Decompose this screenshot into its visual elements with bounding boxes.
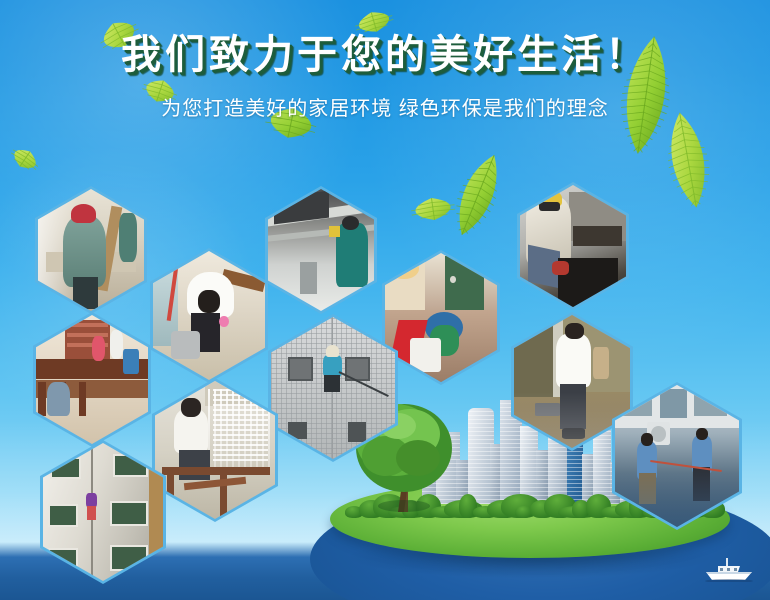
hex-demolition-worker-photo (38, 189, 144, 311)
hex-rooftop-clean-photo (615, 385, 739, 527)
hex-carpet-machine-photo (385, 253, 497, 382)
hex-chandelier-clean[interactable] (152, 378, 278, 522)
hex-ceiling-duct-photo (268, 189, 374, 311)
hexagon-photo-grid (0, 0, 770, 600)
hex-ceiling-duct[interactable] (265, 186, 377, 314)
hex-kitchen-hood-photo (520, 185, 626, 307)
subheadline-container: 为您打造美好的家居环境 绿色环保是我们的理念 (0, 96, 770, 122)
hex-building-exterior[interactable] (40, 440, 166, 584)
hex-stair-mopping-photo (153, 251, 265, 380)
hex-kitchen-hood[interactable] (517, 182, 629, 310)
hex-handrail-polish-photo (36, 315, 148, 444)
hex-facade-rope-photo (271, 317, 395, 459)
hex-chandelier-clean-photo (155, 381, 275, 519)
promo-banner: 我们致力于您的美好生活！ 为您打造美好的家居环境 绿色环保是我们的理念 (0, 0, 770, 600)
headline-container: 我们致力于您的美好生活！ (0, 32, 770, 78)
hex-carpet-machine[interactable] (382, 250, 500, 385)
hex-building-exterior-photo (43, 443, 163, 581)
hex-handrail-polish[interactable] (33, 312, 151, 447)
banner-subheadline: 为您打造美好的家居环境 绿色环保是我们的理念 (161, 96, 609, 122)
banner-headline: 我们致力于您的美好生活！ (121, 32, 649, 78)
hex-demolition-worker[interactable] (35, 186, 147, 314)
hex-stair-mopping[interactable] (150, 248, 268, 383)
hex-facade-rope[interactable] (268, 314, 398, 462)
boat (700, 556, 758, 582)
